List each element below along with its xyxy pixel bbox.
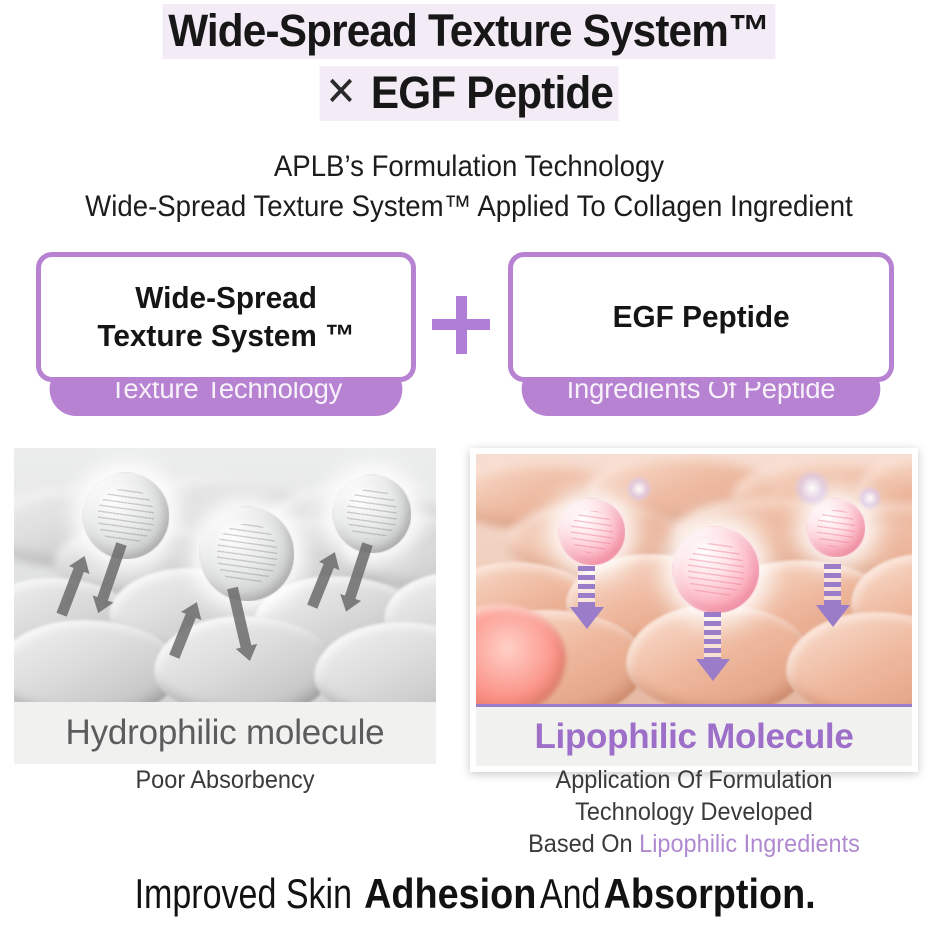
title-block: Wide-Spread Texture System™ ✕EGF Peptide bbox=[0, 0, 938, 121]
title-text-secondary-wrap: ✕EGF Peptide bbox=[319, 66, 618, 121]
tagline-inner: Improved Skin Adhesion And Absorption. bbox=[122, 870, 815, 918]
plus-icon bbox=[432, 296, 490, 354]
panel-footnotes: Poor Absorbency Application Of Formulati… bbox=[0, 758, 938, 868]
panel-hydrophilic-caption: Hydrophilic molecule bbox=[14, 702, 436, 764]
footnote-hydrophilic: Poor Absorbency bbox=[14, 764, 436, 796]
feature-box-texture-heading-line2: Texture System ™ bbox=[97, 317, 354, 355]
footnote-lipophilic-line2: Technology Developed bbox=[483, 796, 904, 828]
molecule-gray-3 bbox=[332, 474, 412, 554]
sparkle-2 bbox=[794, 470, 830, 506]
molecule-pink-1 bbox=[558, 498, 626, 566]
skin-surface-gray-illustration bbox=[14, 448, 436, 702]
subtitle-block: APLB’s Formulation Technology Wide-Sprea… bbox=[0, 147, 938, 226]
footnote-lipophilic-line3-accent: Lipophilic Ingredients bbox=[639, 830, 860, 858]
title-line-1: Wide-Spread Texture System™ bbox=[0, 4, 938, 59]
feature-box-peptide-heading: EGF Peptide bbox=[613, 298, 790, 336]
feature-box-row: Wide-Spread Texture System ™ Texture Tec… bbox=[0, 244, 938, 434]
footnote-lipophilic-line3-plain: Based On bbox=[528, 830, 639, 858]
panel-lipophilic-caption: Lipophilic Molecule bbox=[476, 704, 912, 766]
tagline-bold-absorption: Absorption. bbox=[603, 870, 815, 917]
feature-box-peptide: EGF Peptide bbox=[508, 252, 894, 382]
tagline-part-1: Improved Skin bbox=[134, 870, 351, 918]
feature-box-texture-heading: Wide-Spread Texture System ™ bbox=[97, 279, 354, 355]
title-text-secondary: EGF Peptide bbox=[371, 67, 613, 118]
title-text-primary: Wide-Spread Texture System™ bbox=[163, 4, 776, 59]
feature-box-texture-heading-line1: Wide-Spread bbox=[97, 279, 354, 317]
molecule-pink-2 bbox=[672, 526, 760, 614]
title-line-2: ✕EGF Peptide bbox=[0, 66, 938, 121]
sparkle-3 bbox=[858, 486, 882, 510]
comparison-panels: Hydrophilic molecule bbox=[0, 448, 938, 748]
multiply-icon: ✕ bbox=[325, 70, 371, 114]
subtitle-line-1: APLB’s Formulation Technology bbox=[38, 147, 901, 187]
footnote-lipophilic: Application Of Formulation Technology De… bbox=[470, 764, 918, 860]
tagline-bold-adhesion: Adhesion bbox=[364, 870, 536, 917]
footnote-lipophilic-line1: Application Of Formulation bbox=[483, 764, 904, 796]
arrow-absorb-2 bbox=[704, 612, 721, 662]
skin-surface-pink-illustration bbox=[476, 454, 912, 704]
panel-lipophilic-image bbox=[476, 454, 912, 704]
molecule-pink-3 bbox=[806, 498, 866, 558]
panel-hydrophilic: Hydrophilic molecule bbox=[14, 448, 436, 764]
subtitle-line-2: Wide-Spread Texture System™ Applied To C… bbox=[38, 187, 901, 227]
tagline: Improved Skin Adhesion And Absorption. bbox=[0, 870, 938, 918]
arrow-absorb-1 bbox=[578, 566, 595, 610]
panel-hydrophilic-image bbox=[14, 448, 436, 702]
feature-box-peptide-heading-line1: EGF Peptide bbox=[613, 298, 790, 336]
molecule-gray-2 bbox=[199, 506, 295, 602]
footnote-hydrophilic-line1: Poor Absorbency bbox=[27, 764, 424, 796]
footnote-lipophilic-line3: Based On Lipophilic Ingredients bbox=[483, 828, 904, 860]
feature-box-texture: Wide-Spread Texture System ™ bbox=[36, 252, 416, 382]
tagline-part-2: And bbox=[540, 870, 601, 918]
arrow-absorb-3 bbox=[824, 564, 841, 608]
panel-lipophilic: Lipophilic Molecule bbox=[470, 448, 918, 772]
sparkle-1 bbox=[626, 476, 652, 502]
